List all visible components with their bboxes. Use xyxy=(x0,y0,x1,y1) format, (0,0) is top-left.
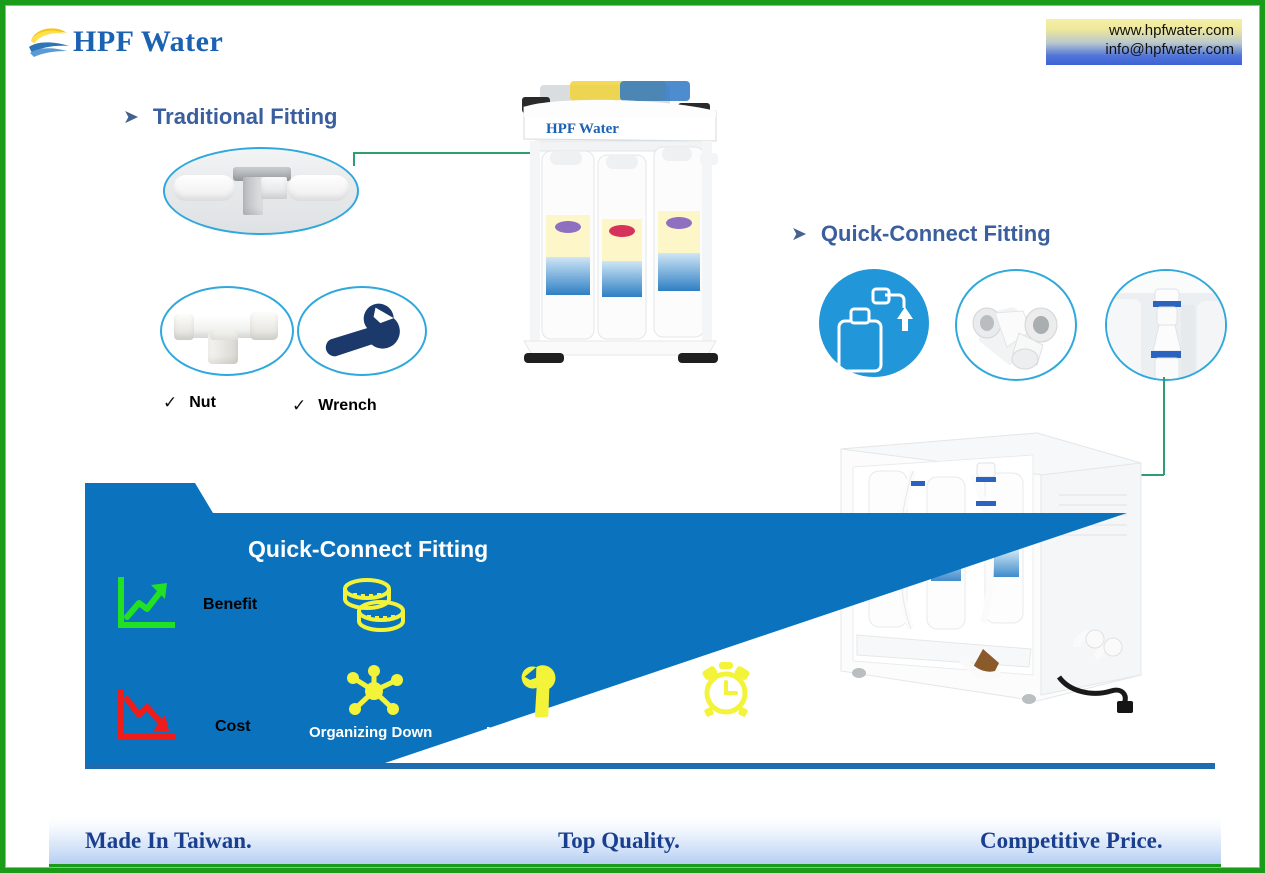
alarm-clock-icon xyxy=(695,660,757,718)
saving-maintenance-time-label: Saving MaintenanceTime xyxy=(642,724,821,742)
organizing-down-label: Organizing Down xyxy=(309,724,432,742)
wrench-circle xyxy=(297,286,427,376)
traditional-fitting-closeup xyxy=(163,147,359,235)
nut-fitting-photo xyxy=(162,288,292,374)
wrench-check-row: ✓ Wrench xyxy=(292,396,377,416)
wrench-icon xyxy=(299,288,425,374)
cost-label: Cost xyxy=(215,718,251,736)
footer-tagline-1: Made In Taiwan. xyxy=(85,828,252,854)
brand-logo[interactable]: HPF Water xyxy=(27,23,223,61)
footer-rule xyxy=(49,864,1221,867)
chart-up-icon xyxy=(115,575,179,631)
wave-sun-logo-icon xyxy=(27,23,71,61)
footer-tagline-3: Competitive Price. xyxy=(980,828,1163,854)
slide-page: HPF Water www.hpfwater.com info@hpfwater… xyxy=(0,0,1265,873)
coins-icon xyxy=(335,573,409,635)
wrench-icon xyxy=(509,665,575,717)
no-need-tool-label: No need Tool xyxy=(486,724,580,742)
network-node-icon xyxy=(341,665,407,717)
nut-fitting-circle xyxy=(160,286,294,376)
footer-tagline-2: Top Quality. xyxy=(558,828,680,854)
installed-fitting-circle xyxy=(1105,269,1227,381)
connector-line-quick-vertical xyxy=(1163,377,1165,475)
nut-check-row: ✓ Nut xyxy=(163,393,216,413)
arrow-bullet-icon: ➤ xyxy=(123,108,139,127)
quick-connect-elbow-circle xyxy=(955,269,1077,381)
connector-line-traditional-vertical xyxy=(353,152,355,166)
brand-name: HPF Water xyxy=(73,27,223,57)
heading-traditional-fitting: ➤ Traditional Fitting xyxy=(123,104,337,130)
heading-traditional-label: Traditional Fitting xyxy=(153,104,338,130)
check-icon: ✓ xyxy=(163,393,177,413)
heading-quick-connect: ➤ Quick-Connect Fitting xyxy=(791,221,1051,247)
banner-title: Quick-Connect Fitting xyxy=(248,536,488,563)
heading-quick-label: Quick-Connect Fitting xyxy=(821,221,1051,247)
nut-label: Nut xyxy=(189,394,216,412)
quick-connect-elbow-photo xyxy=(957,271,1075,379)
traditional-fitting-photo xyxy=(173,167,349,215)
benefit-label: Benefit xyxy=(203,596,257,614)
contact-box[interactable]: www.hpfwater.com info@hpfwater.com xyxy=(1046,19,1242,65)
chart-down-icon xyxy=(115,687,179,743)
check-icon: ✓ xyxy=(292,396,306,416)
email-address[interactable]: info@hpfwater.com xyxy=(1054,41,1234,60)
push-fit-diagram-icon xyxy=(819,269,929,377)
website-url[interactable]: www.hpfwater.com xyxy=(1054,22,1234,41)
wrench-label: Wrench xyxy=(318,397,376,415)
svg-text:HPF Water: HPF Water xyxy=(546,121,619,137)
installed-fitting-photo xyxy=(1107,271,1225,379)
push-fit-diagram-circle xyxy=(819,269,929,377)
arrow-bullet-icon: ➤ xyxy=(791,225,807,244)
ro-water-purifier-photo: HPF Water xyxy=(510,67,732,372)
